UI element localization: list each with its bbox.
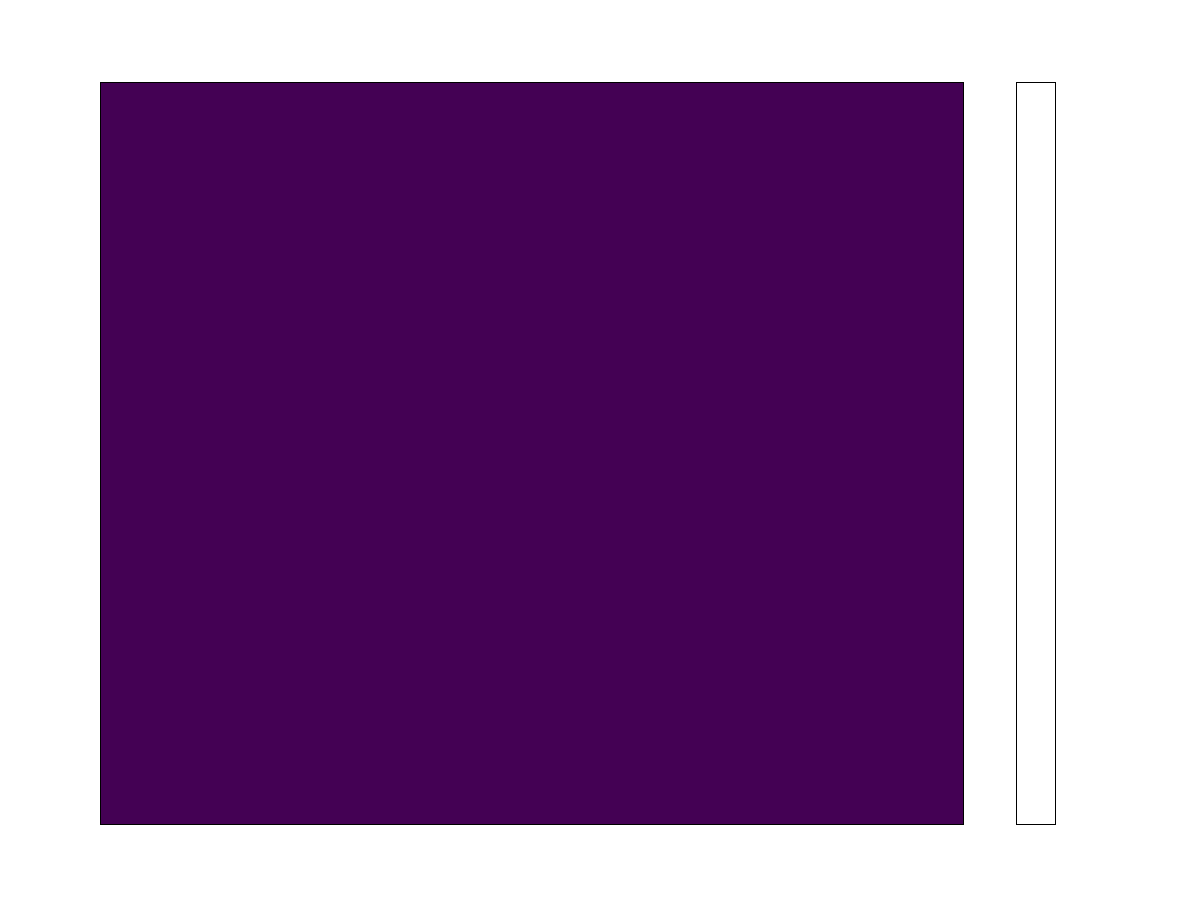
ionogram-heatmap[interactable] (100, 82, 964, 825)
colorbar[interactable] (1016, 82, 1056, 825)
colorbar-gradient (1017, 83, 1055, 824)
heatmap-canvas (101, 83, 963, 824)
ionogram-figure (0, 0, 1200, 900)
